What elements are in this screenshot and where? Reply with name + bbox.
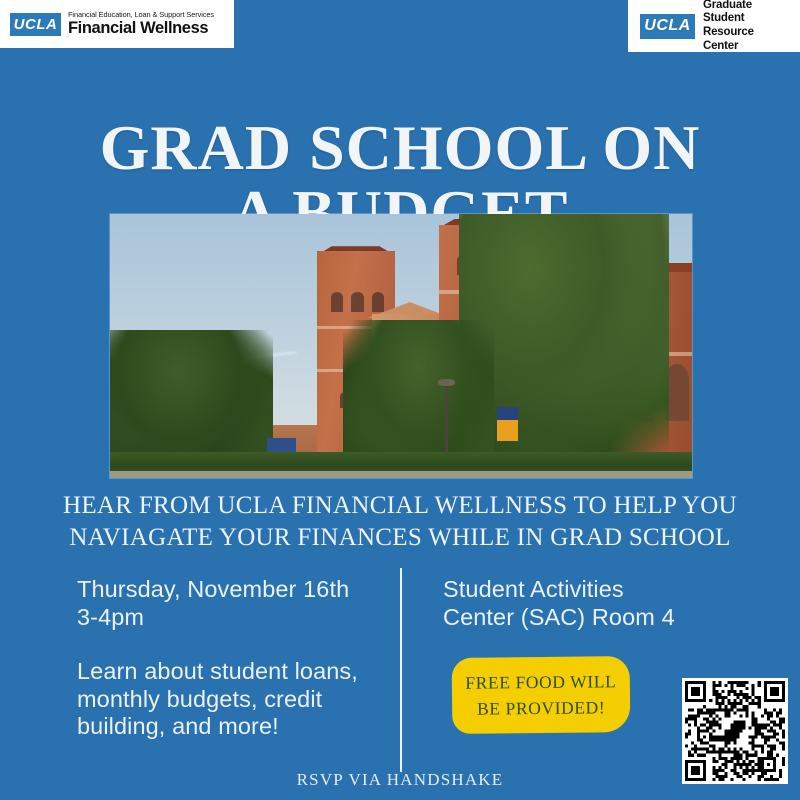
- financial-wellness-tagline: Financial Education, Loan & Support Serv…: [68, 11, 214, 19]
- event-date: Thursday, November 16th: [77, 576, 377, 604]
- event-venue-line-1: Student Activities: [443, 576, 743, 604]
- headline-line-1: GRAD SCHOOL ON: [0, 115, 800, 180]
- event-venue-line-2: Center (SAC) Room 4: [443, 604, 743, 632]
- financial-wellness-logo-text: Financial Education, Loan & Support Serv…: [68, 11, 214, 38]
- photo-lamp-head: [438, 379, 455, 385]
- financial-wellness-logo: UCLA Financial Education, Loan & Support…: [0, 0, 234, 48]
- event-location: Student Activities Center (SAC) Room 4: [443, 576, 743, 631]
- event-description: HEAR FROM UCLA FINANCIAL WELLNESS TO HEL…: [0, 490, 800, 554]
- photo-campus-banner: [497, 407, 518, 441]
- qr-code[interactable]: [682, 678, 788, 784]
- free-food-line-1: FREE FOOD WILL: [465, 668, 616, 696]
- event-datetime: Thursday, November 16th 3-4pm: [77, 576, 377, 631]
- free-food-badge: FREE FOOD WILL BE PROVIDED!: [452, 656, 631, 734]
- subhead-line-2: NAVIAGATE YOUR FINANCES WHILE IN GRAD SC…: [0, 522, 800, 554]
- campus-photo: [110, 214, 692, 478]
- topics-line-3: building, and more!: [77, 713, 387, 741]
- topics-line-1: Learn about student loans,: [77, 658, 387, 686]
- gsrc-logo-text: Graduate Student Resource Center: [703, 0, 792, 53]
- topics-line-2: monthly budgets, credit: [77, 686, 387, 714]
- free-food-line-2: BE PROVIDED!: [477, 694, 606, 722]
- photo-walkway: [110, 471, 692, 478]
- event-flyer: UCLA Financial Education, Loan & Support…: [0, 0, 800, 800]
- event-topics: Learn about student loans, monthly budge…: [77, 658, 387, 741]
- ucla-wordmark-icon: UCLA: [640, 14, 695, 39]
- gsrc-name-line2: Resource Center: [703, 26, 792, 53]
- grad-student-resource-center-logo: UCLA Graduate Student Resource Center: [628, 0, 800, 52]
- gsrc-name-line1: Graduate Student: [703, 0, 792, 26]
- qr-code-image: [685, 681, 785, 781]
- vertical-divider: [400, 568, 402, 772]
- financial-wellness-name: Financial Wellness: [68, 20, 214, 38]
- rsvp-note: RSVP VIA HANDSHAKE: [0, 770, 800, 790]
- subhead-line-1: HEAR FROM UCLA FINANCIAL WELLNESS TO HEL…: [0, 490, 800, 522]
- event-time: 3-4pm: [77, 604, 377, 632]
- ucla-wordmark-icon: UCLA: [10, 13, 61, 36]
